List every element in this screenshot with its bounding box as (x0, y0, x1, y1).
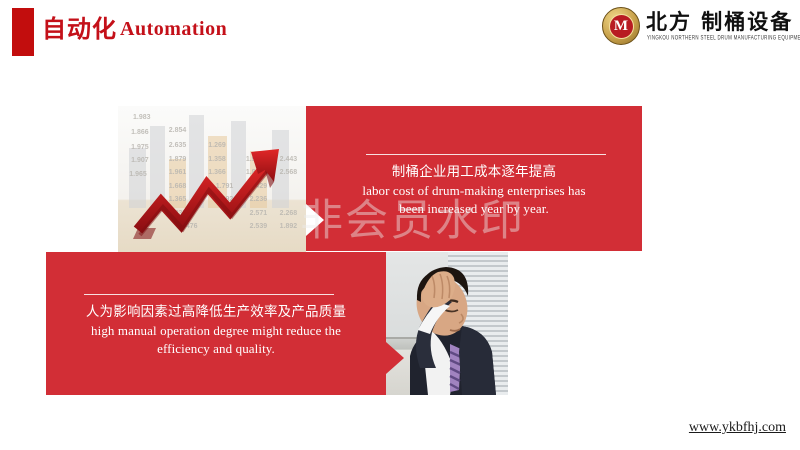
callout-line-english-1: high manual operation degree might reduc… (66, 322, 366, 340)
callout-text-block: 人为影响因素过高降低生产效率及产品质量 high manual operatio… (46, 302, 386, 358)
logo-brand-chinese: 北方 制桶设备 (646, 6, 793, 36)
company-logo: M 北方 制桶设备 YINGKOU NORTHERN STEEL DRUM MA… (602, 4, 794, 50)
callout-manual-operation: 人为影响因素过高降低生产效率及产品质量 high manual operatio… (46, 252, 386, 395)
footer-website-url[interactable]: www.ykbfhj.com (689, 420, 786, 436)
callout-line-chinese: 人为影响因素过高降低生产效率及产品质量 (66, 302, 366, 322)
page-header: 自动化 Automation M 北方 制桶设备 YINGKOU NORTHER… (0, 0, 800, 58)
callout-line-english-2: been increased year by year. (332, 200, 616, 218)
callout-divider (84, 294, 334, 295)
callout-text-block: 制桶企业用工成本逐年提高 labor cost of drum-making e… (306, 162, 642, 218)
logo-medallion-icon: M (602, 7, 640, 45)
rising-arrow-icon (118, 106, 306, 256)
chart-photo: 1.983 1.866 2.854 1.975 2.635 1.269 1.90… (118, 106, 306, 256)
logo-brand-english: YINGKOU NORTHERN STEEL DRUM MANUFACTURIN… (647, 34, 800, 41)
callout-labor-cost: 制桶企业用工成本逐年提高 labor cost of drum-making e… (306, 106, 642, 251)
callout-divider (366, 154, 606, 155)
page-title-english: Automation (120, 18, 227, 41)
callout-pointer-icon (386, 342, 404, 374)
callout-line-english-1: labor cost of drum-making enterprises ha… (332, 182, 616, 200)
logo-monogram: M (609, 14, 634, 39)
header-accent-bar (12, 8, 34, 56)
callout-line-chinese: 制桶企业用工成本逐年提高 (332, 162, 616, 182)
callout-line-english-2: efficiency and quality. (66, 340, 366, 358)
page-title-chinese: 自动化 (42, 14, 117, 44)
